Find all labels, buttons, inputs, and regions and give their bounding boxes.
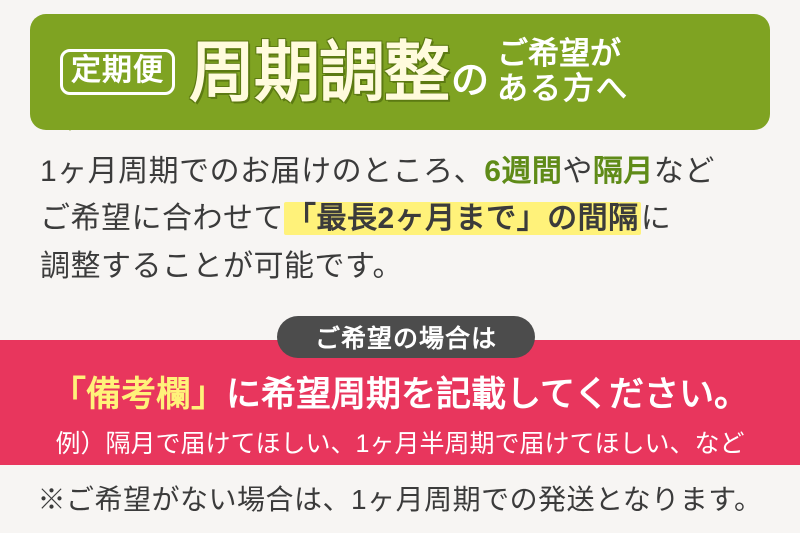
body-line-1: 1ヶ月周期でのお届けのところ、6週間や隔月など	[40, 148, 770, 195]
body-highlight-six-weeks: 6週間	[484, 155, 562, 188]
pink-callout-main: 「備考欄」に希望周期を記載してください。	[0, 366, 800, 417]
header-banner: 定期便 周期調整 の ご希望が ある方へ	[30, 14, 770, 130]
body-line-2-text-b: に	[641, 202, 672, 235]
body-line-3: 調整することが可能です。	[40, 243, 770, 290]
subscription-tag: 定期便	[60, 49, 175, 95]
banner-pointer-tail	[58, 113, 82, 131]
body-highlight-max-interval: 「最長2ヶ月まで」の間隔	[284, 202, 641, 235]
banner-subheadline-line1: ご希望が	[497, 36, 621, 71]
footer-note: ※ご希望がない場合は、1ヶ月周期での発送となります。	[0, 478, 800, 518]
banner-content: 定期便 周期調整 の ご希望が ある方へ	[30, 14, 770, 130]
body-line-2: ご希望に合わせて「最長2ヶ月まで」の間隔に	[40, 195, 770, 242]
body-paragraph: 1ヶ月周期でのお届けのところ、6週間や隔月など ご希望に合わせて「最長2ヶ月まで…	[40, 148, 770, 290]
body-line-2-text-a: ご希望に合わせて	[40, 202, 284, 235]
body-line-1-text-a: 1ヶ月周期でのお届けのところ、	[40, 155, 484, 188]
remarks-field-label: 「備考欄」	[51, 375, 226, 414]
pink-callout-example: 例）隔月で届けてほしい、1ヶ月半周期で届けてほしい、など	[0, 424, 800, 460]
banner-subheadline-line2: ある方へ	[497, 71, 629, 106]
body-line-1-text-c: など	[654, 155, 715, 188]
request-case-pill: ご希望の場合は	[277, 316, 535, 358]
banner-subheadline: ご希望が ある方へ	[497, 37, 629, 106]
banner-headline: 周期調整	[189, 39, 449, 105]
body-highlight-every-other-month: 隔月	[593, 155, 654, 188]
pink-callout-main-rest: に希望周期を記載してください。	[226, 375, 749, 414]
body-line-1-text-b: や	[562, 155, 593, 188]
banner-headline-particle: の	[451, 62, 489, 100]
